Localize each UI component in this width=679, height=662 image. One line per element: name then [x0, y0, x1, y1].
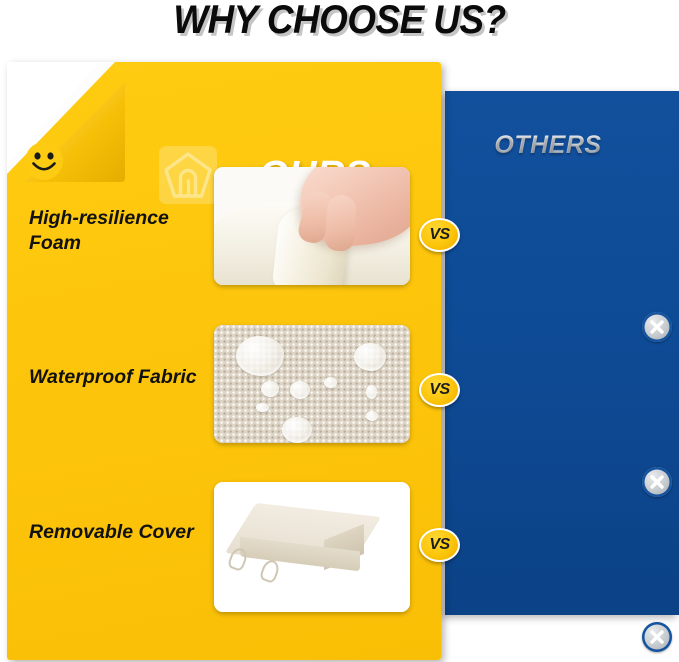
water-bead — [290, 381, 310, 399]
vs-badge: VS — [419, 373, 460, 407]
ours-feature-image-1 — [214, 167, 410, 285]
water-bead — [324, 377, 337, 388]
water-bead — [366, 385, 377, 399]
ours-feature-image-3 — [214, 482, 410, 612]
x-cross-icon — [642, 312, 672, 342]
water-bead — [366, 411, 378, 421]
water-bead — [256, 403, 269, 412]
water-bead — [236, 336, 284, 376]
smiley-face-icon — [24, 141, 64, 181]
water-bead — [261, 381, 279, 397]
x-cross-icon — [642, 467, 672, 497]
others-panel: OTHERS — [445, 91, 679, 615]
ours-panel: OURS High-resilience Foam Waterproof Fab… — [7, 62, 441, 660]
water-bead — [282, 417, 312, 443]
vs-badge: VS — [419, 528, 460, 562]
foam-photo-scene — [214, 167, 410, 285]
ours-feature-label-3: Removable Cover — [29, 520, 209, 545]
ours-feature-label-1: High-resilience Foam — [29, 206, 209, 256]
infographic-canvas: WHY CHOOSE US? OTHERS — [0, 0, 679, 662]
vs-badge: VS — [419, 218, 460, 252]
ours-feature-image-2 — [214, 325, 410, 443]
ours-feature-label-2: Waterproof Fabric — [29, 365, 209, 390]
water-bead — [354, 343, 386, 371]
x-cross-icon — [642, 622, 672, 652]
others-panel-title: OTHERS — [445, 131, 651, 160]
page-title: WHY CHOOSE US? — [27, 0, 652, 43]
pentagon-house-logo — [159, 146, 217, 204]
